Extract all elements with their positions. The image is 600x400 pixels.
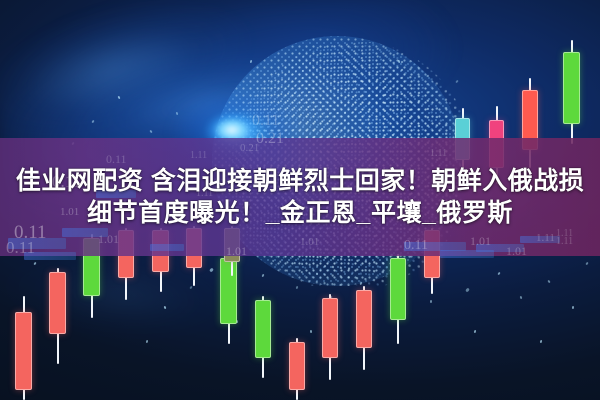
candle-body (356, 290, 372, 348)
headline-block: 佳业网配资 含泪迎接朝鲜烈士回家！朝鲜入俄战损 细节首度曝光！_金正恩_平壤_俄… (0, 138, 600, 256)
candle-body (289, 342, 305, 390)
headline-line-2: 细节首度曝光！_金正恩_平壤_俄罗斯 (87, 199, 513, 227)
candle-body (255, 300, 271, 358)
candle-body (49, 272, 66, 334)
candle-body (15, 312, 32, 390)
banner-image: 0.110.110.111.011.010.110.210.111.111.01… (0, 0, 600, 400)
headline-line-1: 佳业网配资 含泪迎接朝鲜烈士回家！朝鲜入俄战损 (16, 167, 584, 195)
candle-body (390, 258, 406, 320)
candle-body (322, 298, 338, 358)
